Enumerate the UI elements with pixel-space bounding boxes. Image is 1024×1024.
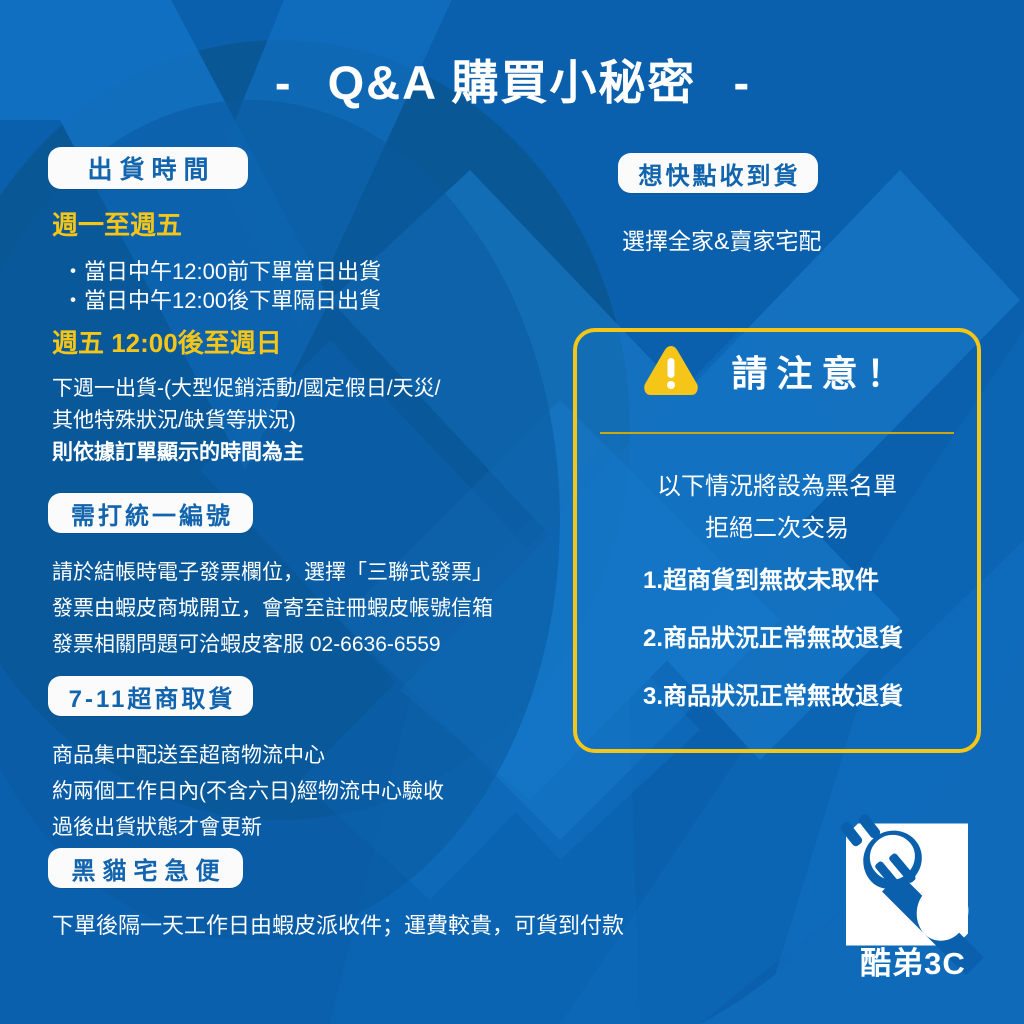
title-dash-left: -: [275, 56, 291, 109]
warning-divider: [600, 432, 954, 434]
warning-triangle-icon: [642, 344, 700, 398]
friday-line-3: 則依據訂單顯示的時間為主: [52, 436, 304, 466]
heading-friday-to-sunday: 週五 12:00後至週日: [52, 323, 282, 360]
warning-header: 請注意！: [573, 330, 981, 412]
section-pill-shipping-time: 出貨時間: [48, 147, 248, 189]
page-title: - Q&A 購買小秘密 -: [0, 44, 1024, 113]
pill-label: 想快點收到貨: [636, 156, 801, 191]
warning-heading: 請注意！: [722, 345, 911, 397]
shipping-line-1: ・當日中午12:00前下單當日出貨: [62, 254, 381, 286]
heading-weekday: 週一至週五: [52, 205, 182, 242]
tax-line-3: 發票相關問題可洽蝦皮客服 02-6636-6559: [52, 628, 441, 658]
pill-label: 黑貓宅急便: [65, 851, 227, 886]
warning-subtitle-line-1: 以下情況將設為黑名單: [573, 466, 981, 501]
title-text: Q&A 購買小秘密: [328, 56, 697, 109]
black-cat-line-1: 下單後隔一天工作日由蝦皮派收件；運費較貴，可貨到付款: [52, 908, 624, 940]
warning-item-2: 2.商品狀況正常無故退貨: [643, 618, 903, 653]
shipping-line-2: ・當日中午12:00後下單隔日出貨: [62, 283, 381, 315]
section-pill-fast-shipping: 想快點收到貨: [618, 153, 818, 193]
title-dash-right: -: [733, 56, 749, 109]
section-pill-seven-eleven: 7-11超商取貨: [48, 676, 253, 716]
warning-item-1: 1.超商貨到無故未取件: [643, 560, 879, 595]
warning-subtitle-line-2: 拒絕二次交易: [573, 508, 981, 543]
tax-line-2: 發票由蝦皮商城開立，會寄至註冊蝦皮帳號信箱: [52, 592, 493, 622]
seven-line-1: 商品集中配送至超商物流中心: [52, 739, 325, 769]
friday-line-1: 下週一出貨-(大型促銷活動/國定假日/天災/: [52, 372, 441, 402]
section-pill-tax-id: 需打統一編號: [48, 493, 253, 533]
fast-shipping-line: 選擇全家&賣家宅配: [622, 222, 821, 256]
poster-canvas: - Q&A 購買小秘密 - 出貨時間 週一至週五 ・當日中午12:00前下單當日…: [0, 0, 1024, 1024]
logo-text: 酷弟3C: [838, 938, 988, 983]
section-pill-black-cat: 黑貓宅急便: [48, 848, 243, 888]
seven-line-2: 約兩個工作日內(不含六日)經物流中心驗收: [52, 775, 444, 805]
tax-line-1: 請於結帳時電子發票欄位，選擇「三聯式發票」: [52, 556, 493, 586]
seven-line-3: 過後出貨狀態才會更新: [52, 811, 262, 841]
pill-label: 出貨時間: [80, 150, 215, 186]
pill-label: 7-11超商取貨: [66, 679, 236, 714]
pill-label: 需打統一編號: [68, 496, 233, 531]
warning-item-3: 3.商品狀況正常無故退貨: [643, 676, 903, 711]
friday-line-2: 其他特殊狀況/缺貨等狀況): [52, 404, 296, 434]
